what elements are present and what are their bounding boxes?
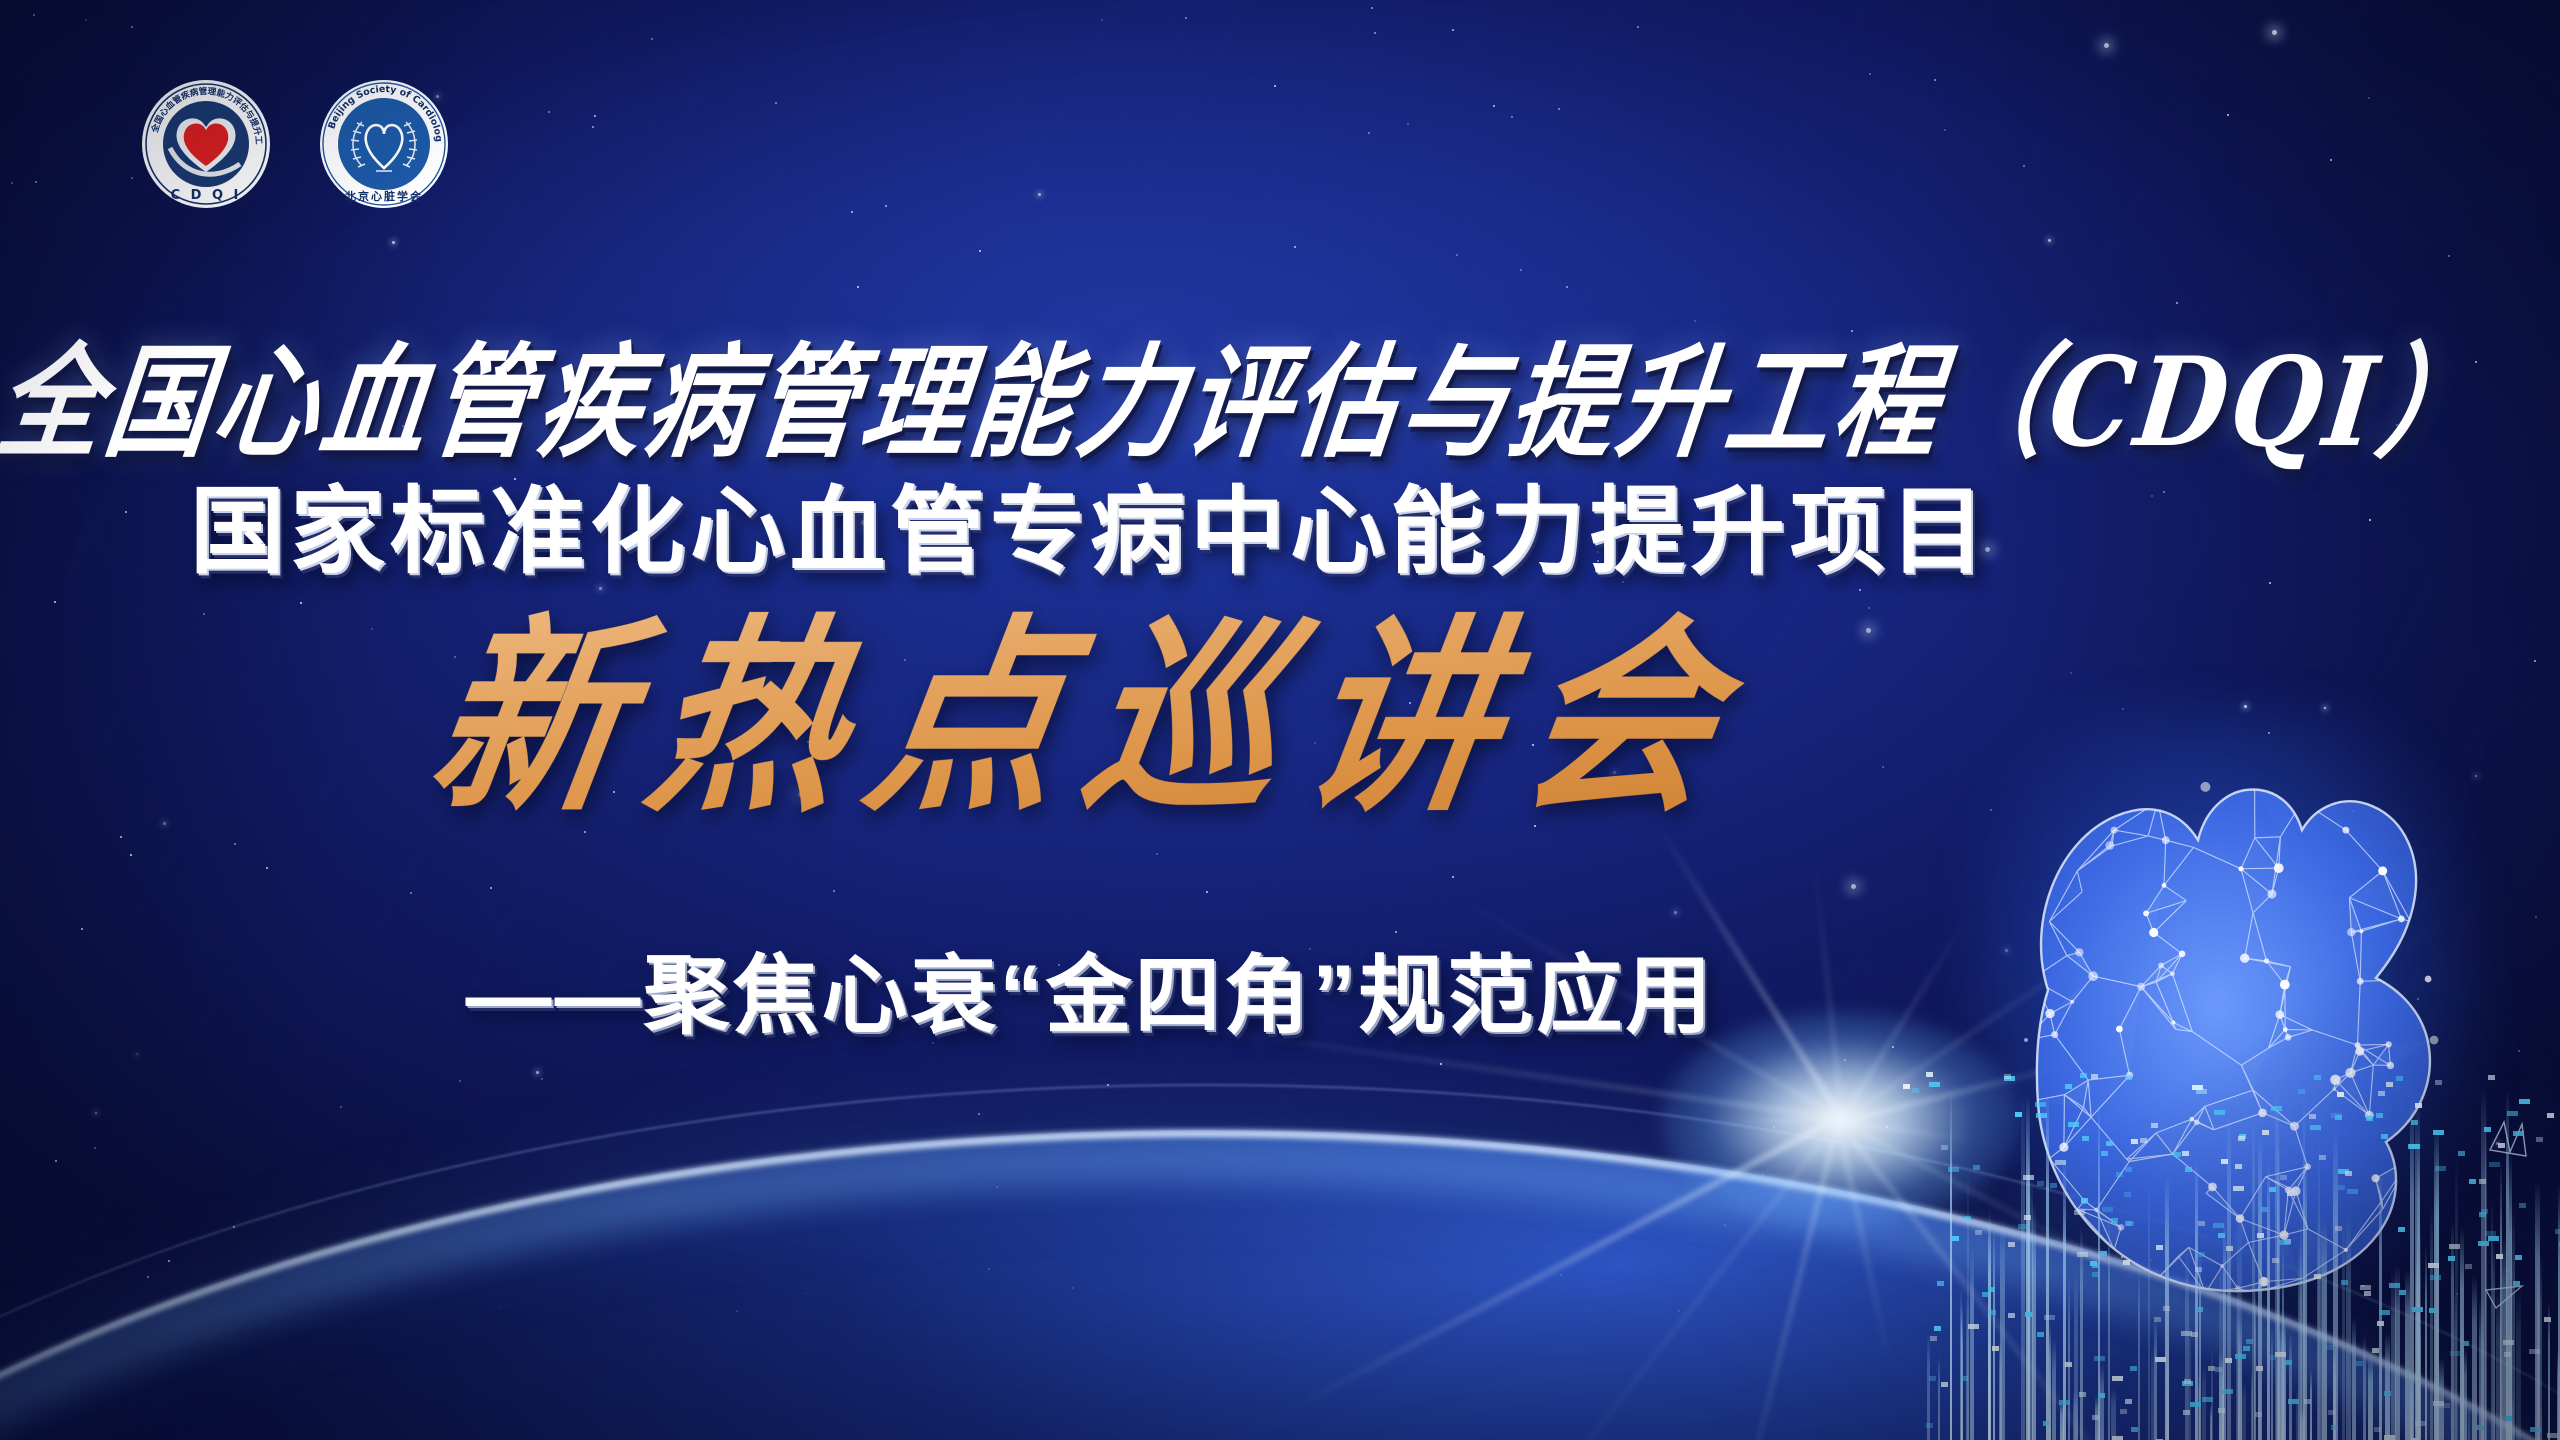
background-vignette xyxy=(0,0,2560,1440)
event-poster: 全国心血管疾病管理能力评估与提升工程 C D Q I Beijing Socie… xyxy=(0,0,2560,1440)
